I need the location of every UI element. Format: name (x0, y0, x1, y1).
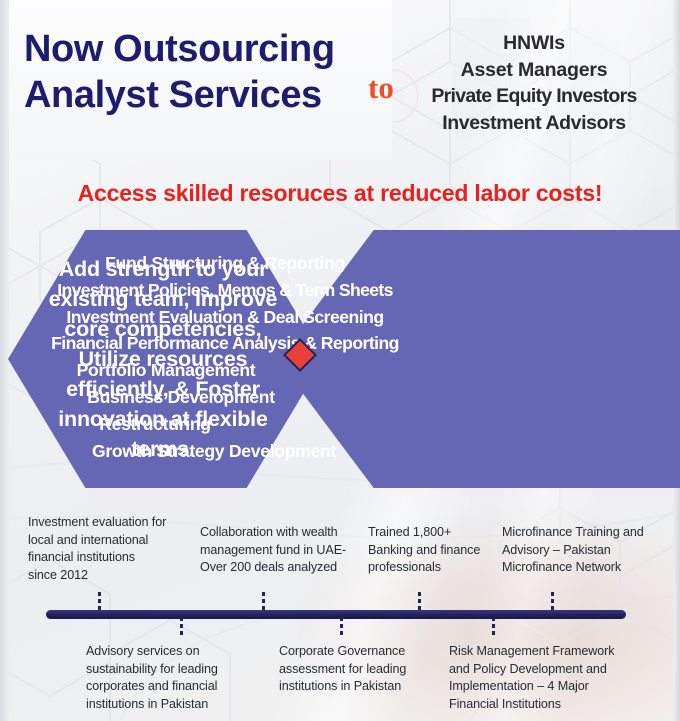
timeline-tick-below-2 (340, 617, 343, 637)
timeline-label-above-4-line-2: Advisory – Pakistan (502, 543, 611, 557)
timeline-label-above-1-line-3: financial institutions (28, 550, 135, 564)
timeline-label-above-1: Investment evaluation for local and inte… (28, 514, 198, 584)
title-line-1: Now Outsourcing (24, 26, 384, 72)
timeline-label-below-1: Advisory services on sustainability for … (86, 643, 272, 713)
timeline-label-above-2-line-2: management fund in UAE- (200, 543, 346, 557)
timeline-section: Investment evaluation for local and inte… (0, 500, 680, 721)
timeline-label-below-2-line-3: institutions in Pakistan (279, 679, 401, 693)
timeline-label-above-1-line-1: Investment evaluation for (28, 515, 166, 529)
timeline-label-above-4-line-1: Microfinance Training and (502, 525, 644, 539)
timeline-label-above-4: Microfinance Training and Advisory – Pak… (502, 524, 680, 577)
timeline-tick-above-1 (98, 592, 101, 612)
timeline-tick-above-3 (418, 592, 421, 612)
services-list: Fund Structuring & Reporting Investment … (50, 250, 400, 464)
infographic-poster: Now Outsourcing Analyst Services to HNWI… (0, 0, 680, 721)
timeline-bar (46, 610, 626, 619)
header-section: Now Outsourcing Analyst Services to HNWI… (0, 0, 680, 166)
audience-item-private-equity-investors: Private Equity Investors (400, 83, 668, 110)
timeline-label-below-3-line-4: Financial Institutions (449, 697, 561, 711)
timeline-label-below-2-line-2: assessment for leading (279, 662, 406, 676)
service-item-financial-performance: Financial Performance Analysis & Reporti… (50, 330, 400, 357)
timeline-label-below-2: Corporate Governance assessment for lead… (279, 643, 465, 696)
timeline-label-above-2-line-1: Collaboration with wealth (200, 525, 338, 539)
timeline-label-below-3-line-3: Implementation – 4 Major (449, 679, 589, 693)
service-item-fund-structuring: Fund Structuring & Reporting (50, 250, 400, 277)
audience-item-hnwis: HNWIs (400, 30, 668, 57)
timeline-label-below-3-line-1: Risk Management Framework (449, 644, 614, 658)
timeline-tick-above-2 (262, 592, 265, 612)
timeline-label-above-3-line-3: professionals (368, 560, 441, 574)
title-line-2: Analyst Services (24, 72, 384, 118)
timeline-label-below-3-line-2: and Policy Development and (449, 662, 607, 676)
service-item-investment-policies: Investment Policies, Memos & Term Sheets (50, 277, 400, 304)
timeline-label-above-4-line-3: Microfinance Network (502, 560, 621, 574)
service-item-restructuring: Restructuring (50, 411, 260, 438)
timeline-label-below-1-line-1: Advisory services on (86, 644, 199, 658)
timeline-label-above-2: Collaboration with wealth management fun… (200, 524, 386, 577)
timeline-label-below-3: Risk Management Framework and Policy Dev… (449, 643, 659, 713)
service-item-growth-strategy: Growth Strategy Development (50, 438, 378, 465)
timeline-tick-above-4 (551, 592, 554, 612)
tagline: Access skilled resoruces at reduced labo… (0, 180, 680, 207)
timeline-tick-below-1 (180, 617, 183, 637)
service-item-portfolio-management: Portfolio Management (50, 357, 282, 384)
audience-item-asset-managers: Asset Managers (400, 57, 668, 84)
service-item-investment-evaluation: Investment Evaluation & Deal Screening (50, 304, 400, 331)
timeline-label-above-3: Trained 1,800+ Banking and finance profe… (368, 524, 518, 577)
audience-list: HNWIs Asset Managers Private Equity Inve… (400, 30, 668, 136)
timeline-label-above-1-line-4: since 2012 (28, 568, 88, 582)
timeline-label-below-1-line-4: institutions in Pakistan (86, 697, 208, 711)
timeline-tick-below-3 (492, 617, 495, 637)
audience-item-investment-advisors: Investment Advisors (400, 110, 668, 137)
timeline-label-above-1-line-2: local and international (28, 533, 148, 547)
timeline-label-below-1-line-3: corporates and financial (86, 679, 217, 693)
timeline-label-above-3-line-2: Banking and finance (368, 543, 480, 557)
timeline-label-below-2-line-1: Corporate Governance (279, 644, 405, 658)
page-title: Now Outsourcing Analyst Services (24, 26, 384, 118)
service-item-business-development: Business Development (50, 384, 312, 411)
hexagon-section: Add strength to your existing team, Impr… (0, 224, 680, 496)
timeline-label-above-2-line-3: Over 200 deals analyzed (200, 560, 337, 574)
timeline-label-below-1-line-2: sustainability for leading (86, 662, 218, 676)
to-connector-label: to (368, 72, 394, 103)
timeline-label-above-3-line-1: Trained 1,800+ (368, 525, 451, 539)
